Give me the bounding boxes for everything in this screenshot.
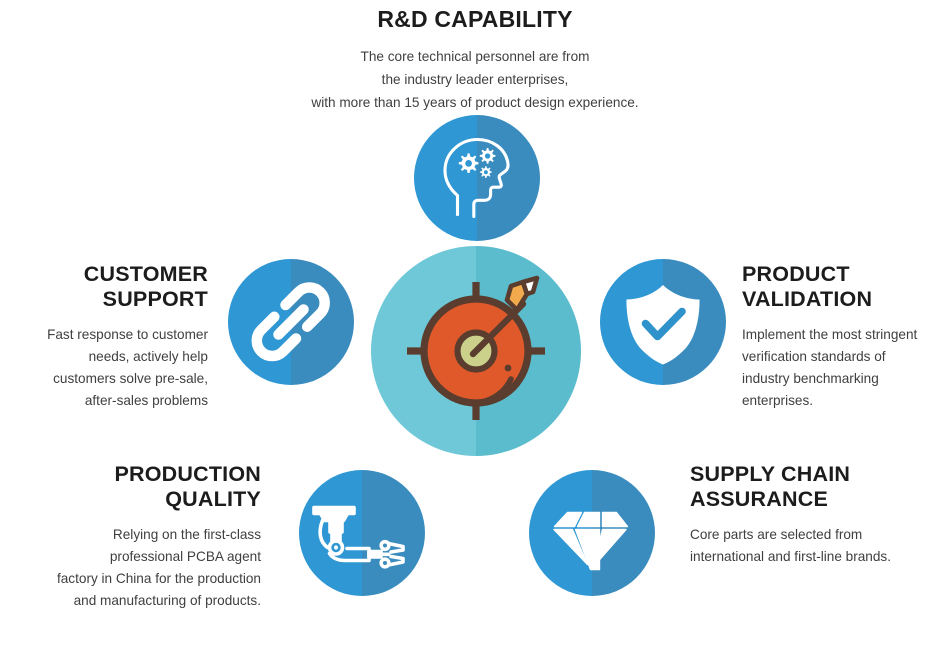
product-validation-title: PRODUCT VALIDATION [742, 262, 950, 311]
production-quality-title: PRODUCTION QUALITY [0, 462, 261, 511]
section-rd-capability-text: R&D CAPABILITY The core technical person… [0, 6, 950, 115]
gear-large [459, 153, 479, 173]
link-chain-icon [228, 259, 354, 385]
product-validation-icon-circle[interactable] [600, 259, 726, 385]
head-gears-icon [414, 115, 540, 241]
section-product-validation-text: PRODUCT VALIDATION Implement the most st… [742, 262, 950, 413]
supply-chain-title: SUPPLY CHAIN ASSURANCE [690, 462, 948, 511]
customer-support-body: Fast response to customer needs, activel… [0, 324, 208, 413]
gear-medium [480, 148, 496, 164]
supply-chain-body: Core parts are selected from internation… [690, 524, 948, 568]
target-arrow-icon [371, 246, 581, 456]
core-target-icon-circle[interactable] [371, 246, 581, 456]
rd-capability-icon-circle[interactable] [414, 115, 540, 241]
rd-capability-body: The core technical personnel are from th… [0, 46, 950, 114]
robot-arm-icon [299, 470, 425, 596]
diamond-icon [529, 470, 655, 596]
production-quality-icon-circle[interactable] [299, 470, 425, 596]
shield-check-icon [600, 259, 726, 385]
product-validation-body: Implement the most stringent verificatio… [742, 324, 950, 413]
supply-chain-icon-circle[interactable] [529, 470, 655, 596]
section-customer-support-text: CUSTOMER SUPPORT Fast response to custom… [0, 262, 208, 413]
customer-support-icon-circle[interactable] [228, 259, 354, 385]
arrow-fletching [507, 278, 537, 310]
gear-small [480, 166, 492, 178]
production-quality-body: Relying on the first-class professional … [0, 524, 261, 613]
rd-capability-title: R&D CAPABILITY [0, 6, 950, 32]
section-production-quality-text: PRODUCTION QUALITY Relying on the first-… [0, 462, 261, 613]
infographic-canvas: R&D CAPABILITY The core technical person… [0, 0, 950, 667]
customer-support-title: CUSTOMER SUPPORT [0, 262, 208, 311]
section-supply-chain-text: SUPPLY CHAIN ASSURANCE Core parts are se… [690, 462, 948, 568]
shield-body [626, 285, 699, 365]
